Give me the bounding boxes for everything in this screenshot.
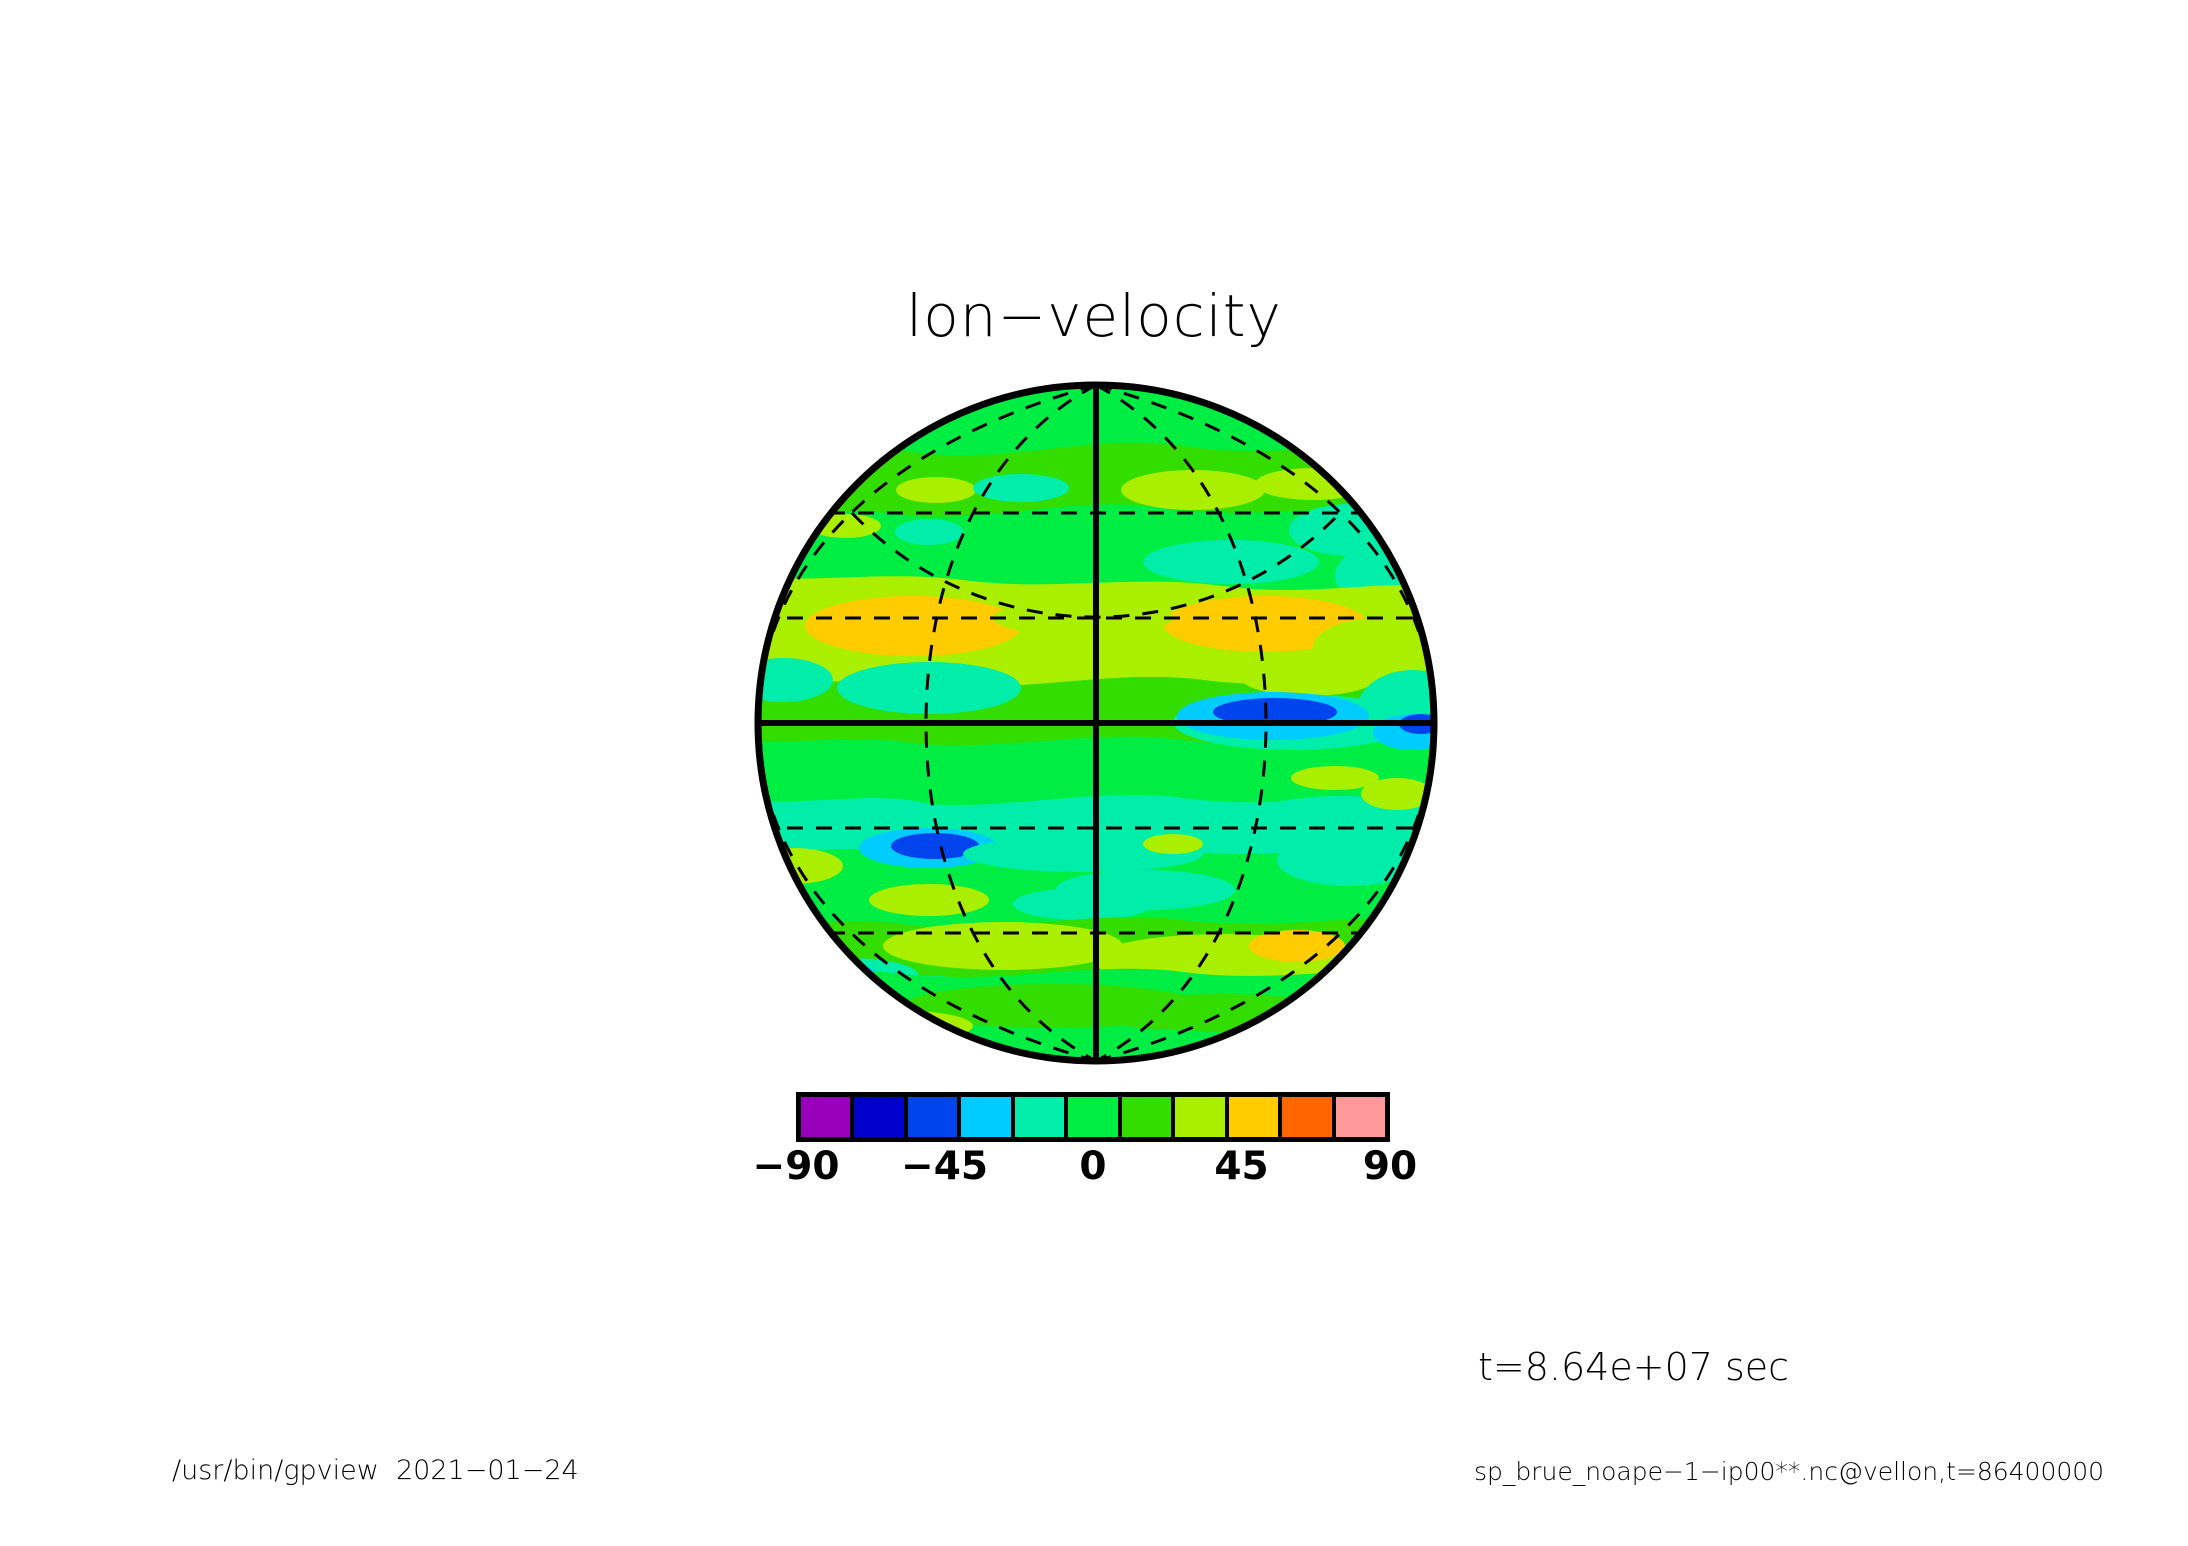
colorbar-cell-5 <box>1068 1097 1121 1137</box>
colorbar-tick-45: 45 <box>1214 1144 1268 1189</box>
colorbar-cell-8 <box>1229 1097 1282 1137</box>
colorbar-cell-3 <box>961 1097 1014 1137</box>
colorbar-cell-2 <box>908 1097 961 1137</box>
page-title: lon−velocity <box>0 282 2188 350</box>
colorbar-tick--45: −45 <box>901 1144 988 1189</box>
colorbar: −90−4504590 <box>796 1092 1396 1202</box>
colorbar-cell-6 <box>1122 1097 1175 1137</box>
colorbar-cell-7 <box>1175 1097 1228 1137</box>
colorbar-cell-1 <box>854 1097 907 1137</box>
colorbar-tick--90: −90 <box>753 1144 840 1189</box>
colorbar-tick-labels: −90−4504590 <box>796 1144 1390 1194</box>
footer-dataset-source: sp_brue_noape−1−ip00**.nc@vellon,t=86400… <box>1474 1457 2104 1486</box>
globe-plot <box>753 380 1439 1066</box>
colorbar-tick-0: 0 <box>1079 1144 1106 1189</box>
globe-svg <box>753 380 1439 1066</box>
colorbar-cell-4 <box>1015 1097 1068 1137</box>
colorbar-cell-0 <box>801 1097 854 1137</box>
colorbar-tick-90: 90 <box>1363 1144 1417 1189</box>
footer-command-date: /usr/bin/gpview 2021−01−24 <box>172 1455 579 1486</box>
colorbar-cell-10 <box>1336 1097 1385 1137</box>
colorbar-cell-9 <box>1282 1097 1335 1137</box>
colorbar-swatches <box>796 1092 1390 1142</box>
time-annotation: t=8.64e+07 sec <box>1478 1345 1789 1389</box>
